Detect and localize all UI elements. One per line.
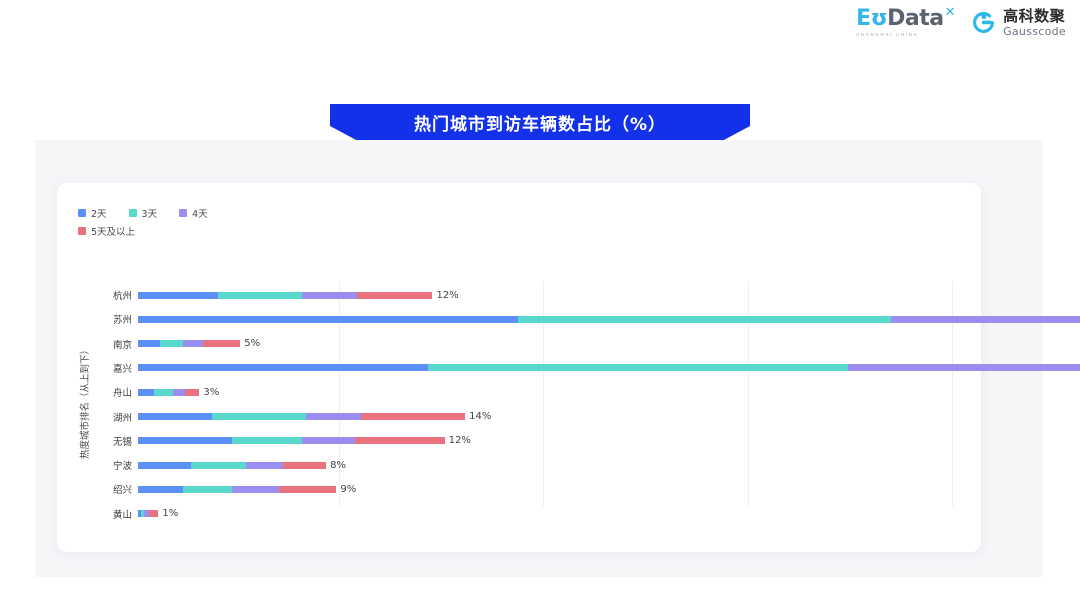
legend-item[interactable]: 4天: [179, 206, 208, 220]
legend-item[interactable]: 5天及以上: [78, 224, 338, 238]
legend-item-label: 2天: [91, 206, 107, 220]
gausscode-mark-icon: [971, 10, 996, 35]
legend-item-label: 4天: [192, 206, 208, 220]
evdata-logo-wordmark: EʊData✕: [856, 8, 955, 30]
page-title: 热门城市到访车辆数占比（%）: [414, 110, 666, 135]
legend-item[interactable]: 3天: [129, 206, 158, 220]
evdata-logo-data-text: Data: [887, 8, 943, 30]
legend-item[interactable]: 2天: [78, 206, 107, 220]
legend-item-label: 3天: [142, 206, 158, 220]
evdata-logo-ev-text: Eʊ: [856, 8, 887, 30]
gausscode-logo-en: Gausscode: [1003, 26, 1066, 37]
legend-swatch-icon: [179, 209, 187, 217]
legend-item-label: 5天及以上: [91, 224, 135, 238]
gausscode-logo-text: 高科数聚 Gausscode: [1003, 9, 1066, 37]
evdata-logo-x-icon: ✕: [945, 6, 955, 19]
title-ribbon: 热门城市到访车辆数占比（%）: [330, 104, 750, 144]
legend-swatch-icon: [78, 209, 86, 217]
evdata-logo-subtitle: SHANGHAI CHINA: [856, 32, 918, 37]
gausscode-logo: 高科数聚 Gausscode: [971, 9, 1066, 37]
gausscode-logo-cn: 高科数聚: [1003, 9, 1066, 24]
legend-swatch-icon: [129, 209, 137, 217]
legend-swatch-icon: [78, 227, 86, 235]
evdata-logo: EʊData✕ SHANGHAI CHINA: [856, 8, 955, 37]
header-logos: EʊData✕ SHANGHAI CHINA 高科数聚 Gausscode: [856, 8, 1066, 37]
chart-legend: 2天3天4天5天及以上: [78, 206, 338, 242]
